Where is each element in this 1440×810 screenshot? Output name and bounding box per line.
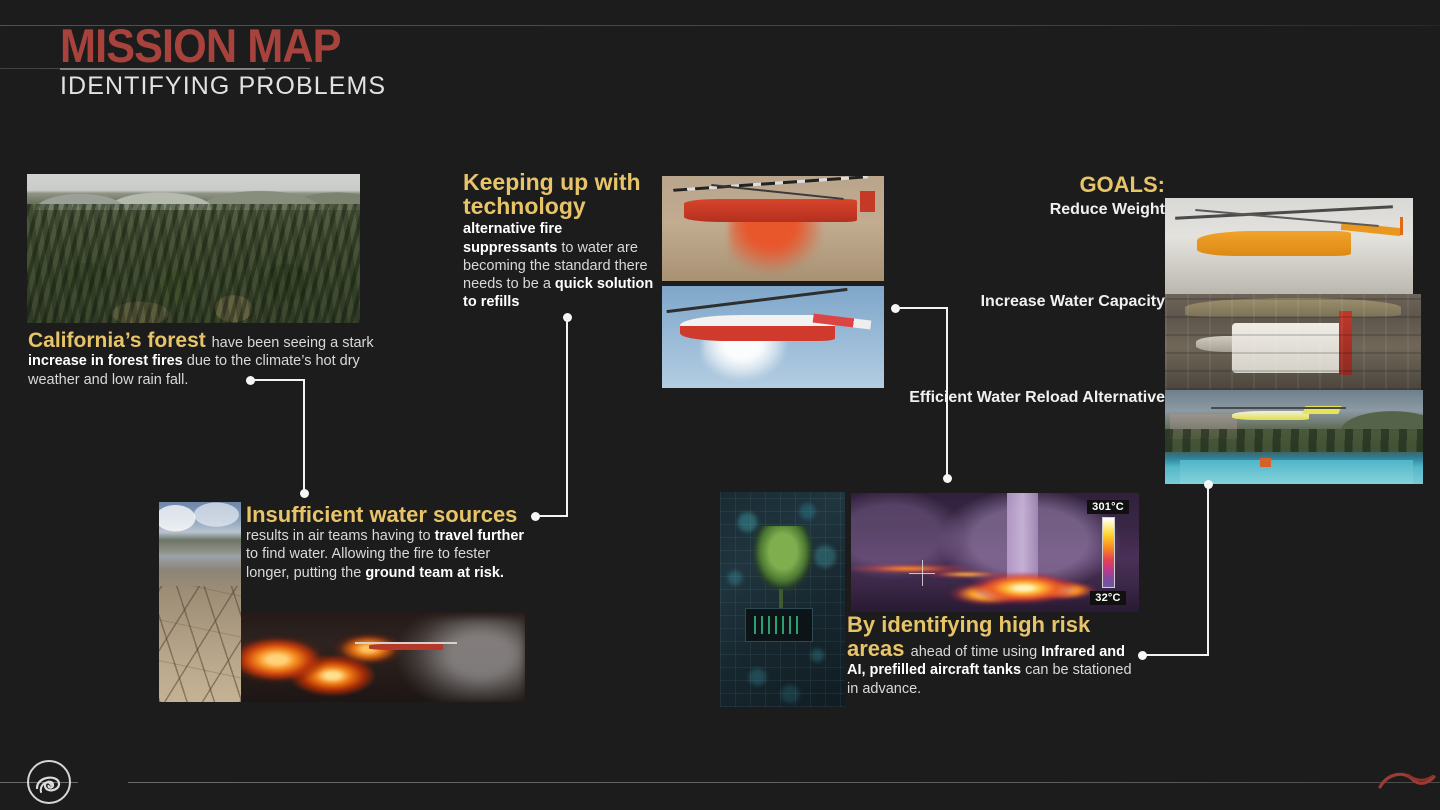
california-body-1: have been seeing a stark <box>212 335 374 351</box>
brand-swoosh-icon <box>1378 765 1436 793</box>
page-subtitle: IDENTIFYING PROBLEMS <box>60 72 386 101</box>
highrisk-body-1: ahead of time using <box>911 644 1042 660</box>
thermal-min-temp: 32°C <box>1090 591 1125 605</box>
image-night-wildfire <box>241 612 525 702</box>
technology-body: alternative fire suppressants to water a… <box>463 220 655 311</box>
connector-dot-goals-end <box>1138 651 1147 660</box>
text-block-technology: Keeping up with technology alternative f… <box>463 170 655 312</box>
thermal-max-temp: 301°C <box>1087 500 1129 514</box>
connector-technology-h <box>536 515 568 517</box>
image-ai-circuit-tree <box>720 492 845 707</box>
technology-body-bold-1: alternative fire suppressants <box>463 221 562 255</box>
california-heading: California’s forest <box>28 329 212 352</box>
text-block-california: California’s forest have been seeing a s… <box>28 330 378 389</box>
insufficient-heading: Insufficient water sources <box>246 503 526 526</box>
image-goal-increase-capacity <box>1165 294 1421 390</box>
connector-technology-v <box>566 317 568 517</box>
goals-title: GOALS: <box>940 172 1165 198</box>
connector-goals-v <box>1207 484 1209 656</box>
goal-label-reload-alternative: Efficient Water Reload Alternative <box>905 388 1165 408</box>
connector-california-v <box>303 379 305 492</box>
insufficient-body: results in air teams having to travel fu… <box>246 527 526 582</box>
brand-logo-icon <box>27 760 71 804</box>
image-helicopter-retardant <box>662 176 884 281</box>
thermal-gradient-bar <box>1102 517 1115 588</box>
insufficient-body-bold-1: travel further <box>435 528 524 544</box>
technology-heading: Keeping up with technology <box>463 170 655 218</box>
image-goal-reload-alternative <box>1165 390 1423 484</box>
connector-dot-california-end <box>300 489 309 498</box>
connector-california-h <box>250 379 305 381</box>
connector-heli-h <box>895 307 948 309</box>
california-body-bold-1: increase in forest fires <box>28 353 183 369</box>
footer-divider-right <box>128 782 1440 783</box>
connector-goals-h <box>1143 654 1209 656</box>
image-goal-reduce-weight <box>1165 198 1413 295</box>
thermal-crosshair-icon <box>909 560 935 586</box>
text-block-insufficient: Insufficient water sources results in ai… <box>246 503 526 582</box>
image-drought <box>159 502 241 702</box>
goal-label-reduce-weight: Reduce Weight <box>905 200 1165 220</box>
image-thermal-infrared: 301°C 32°C <box>851 493 1139 612</box>
image-helicopter-water <box>662 286 884 388</box>
connector-dot-technology-end <box>531 512 540 521</box>
image-california-forest <box>27 174 360 323</box>
page-title: MISSION MAP <box>60 22 341 69</box>
thermal-color-scale: 301°C 32°C <box>1086 500 1130 605</box>
title-underline <box>60 68 265 70</box>
connector-dot-heli-end <box>943 474 952 483</box>
slide-canvas: MISSION MAP IDENTIFYING PROBLEMS Califor… <box>0 0 1440 810</box>
insufficient-body-bold-2: ground team at risk. <box>365 565 504 581</box>
insufficient-body-1: results in air teams having to <box>246 528 435 544</box>
text-block-high-risk: By identifying high risk areas ahead of … <box>847 613 1139 698</box>
connector-heli-v <box>946 307 948 477</box>
goal-label-increase-capacity: Increase Water Capacity <box>905 292 1165 312</box>
